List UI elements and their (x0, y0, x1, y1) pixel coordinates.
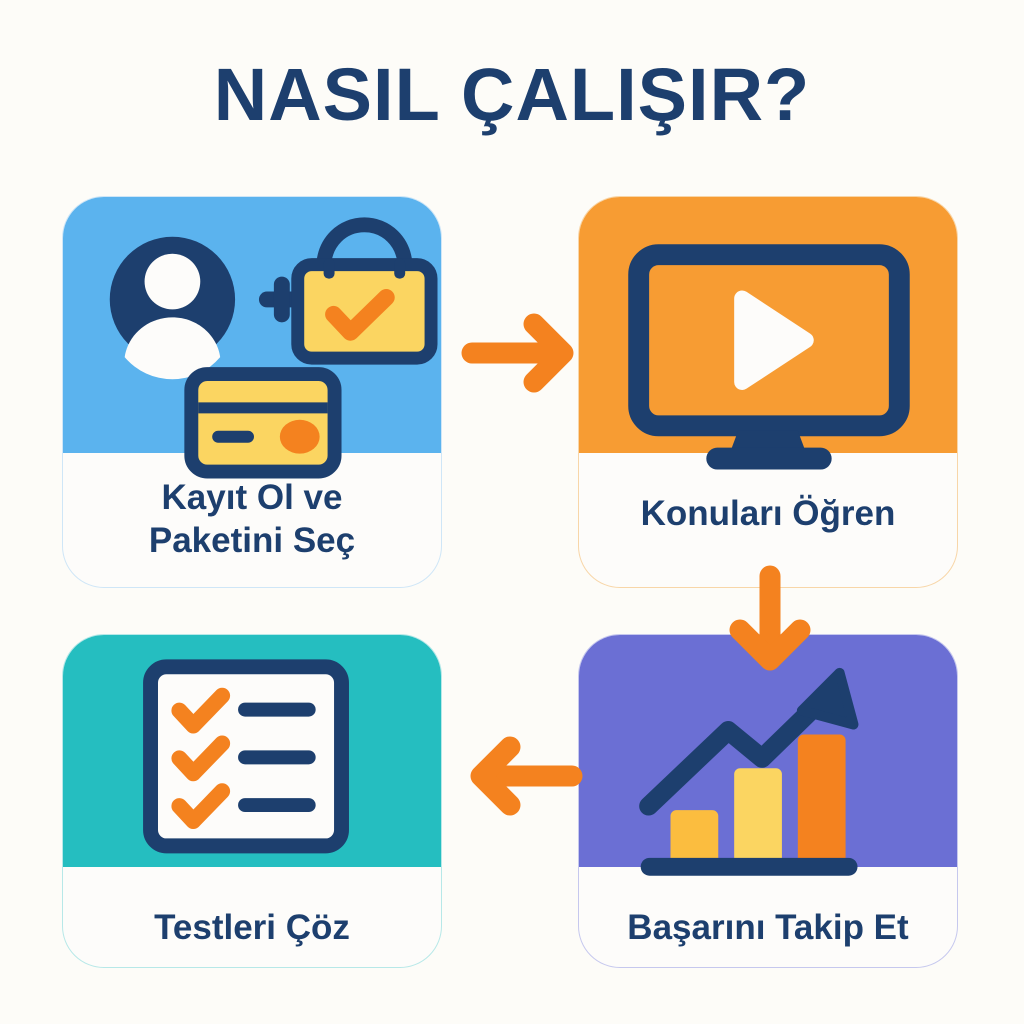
step-card-progress[interactable]: Başarını Takip Et (578, 634, 958, 968)
signup-illustration (63, 197, 441, 453)
step-card-learn[interactable]: Konuları Öğren (578, 196, 958, 588)
how-it-works-infographic: NASIL ÇALIŞIR? (0, 0, 1024, 1024)
step-card-progress-label: Başarını Takip Et (579, 907, 957, 950)
arrow-right-icon (458, 308, 586, 398)
signup-label-line1: Kayıt Ol ve (63, 477, 441, 520)
step-card-quiz[interactable]: Testleri Çöz (62, 634, 442, 968)
arrow-down-icon (718, 562, 822, 678)
arrow-left-icon (452, 728, 586, 824)
step-card-signup[interactable]: Kayıt Ol ve Paketini Seç (62, 196, 442, 588)
step-card-quiz-label: Testleri Çöz (63, 907, 441, 950)
step-card-signup-label: Kayıt Ol ve Paketini Seç (63, 477, 441, 562)
quiz-illustration (63, 635, 441, 867)
step-card-learn-label: Konuları Öğren (579, 493, 957, 536)
page-title: NASIL ÇALIŞIR? (0, 52, 1024, 137)
signup-label-line2: Paketini Seç (63, 520, 441, 563)
learn-illustration (579, 197, 957, 453)
progress-label-line1: Başarını Takip Et (579, 907, 957, 950)
quiz-label-line1: Testleri Çöz (63, 907, 441, 950)
learn-label-line1: Konuları Öğren (579, 493, 957, 536)
